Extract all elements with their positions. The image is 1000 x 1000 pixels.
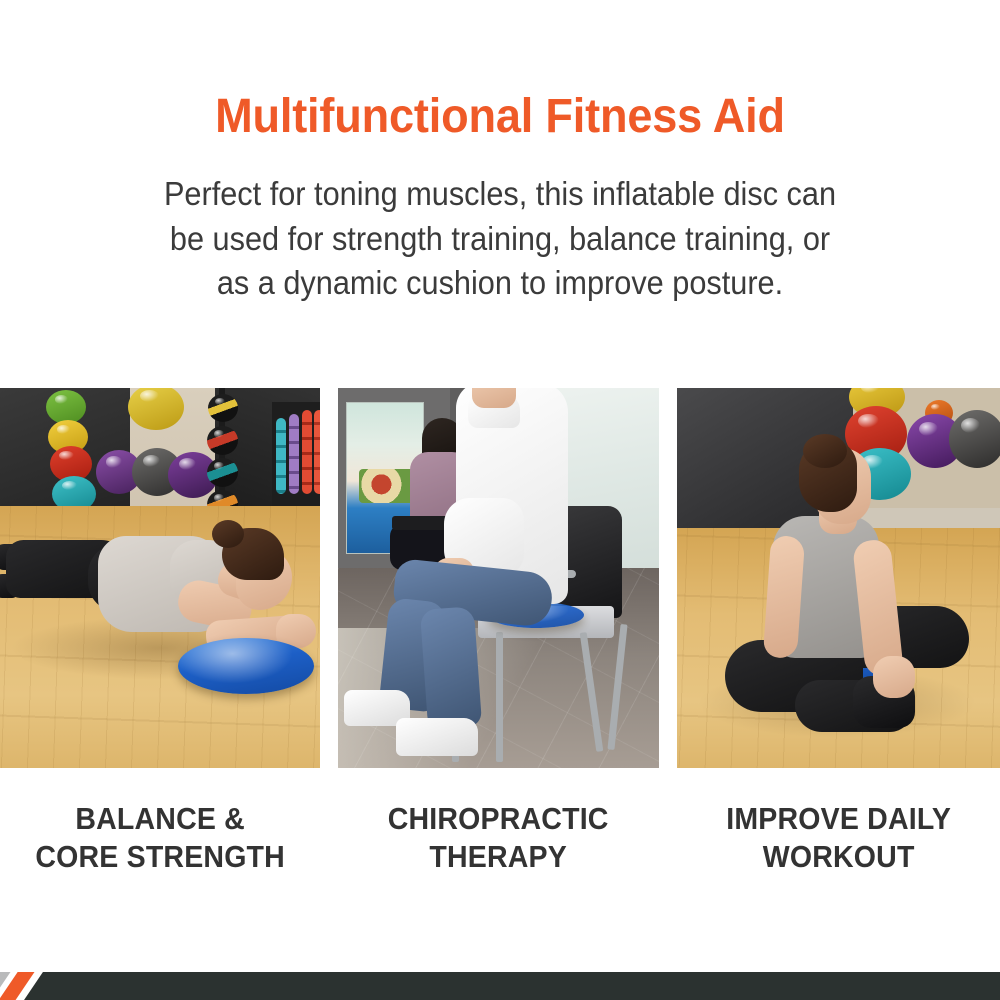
dumbbell-row-purple <box>289 414 299 494</box>
photo-panel-row <box>0 388 1000 768</box>
caption-line-2: CORE STRENGTH <box>13 838 308 876</box>
dumbbell-row-red <box>302 410 312 494</box>
caption-line-1: CHIROPRACTIC <box>351 800 646 838</box>
subtitle-line-3: as a dynamic cushion to improve posture. <box>35 261 965 305</box>
mans-shin-2 <box>420 606 482 729</box>
photo-balance-core-strength <box>0 388 320 768</box>
subtitle-line-1: Perfect for toning muscles, this inflata… <box>35 172 965 216</box>
poster-image <box>359 469 415 503</box>
page-subtitle: Perfect for toning muscles, this inflata… <box>35 172 965 305</box>
hair-bun <box>803 434 847 468</box>
caption-line-2: WORKOUT <box>690 838 987 876</box>
caption-row: BALANCE & CORE STRENGTH CHIROPRACTIC THE… <box>0 800 1000 876</box>
caption-line-1: BALANCE & <box>13 800 308 838</box>
office-chair-leg-front <box>496 632 503 762</box>
photo-improve-daily-workout <box>677 388 1000 768</box>
product-infographic: Multifunctional Fitness Aid Perfect for … <box>0 0 1000 1000</box>
blue-balance-disc <box>178 638 314 694</box>
caption-balance-core-strength: BALANCE & CORE STRENGTH <box>13 800 308 876</box>
subtitle-line-2: be used for strength training, balance t… <box>35 217 965 261</box>
caption-line-2: THERAPY <box>351 838 646 876</box>
page-title: Multifunctional Fitness Aid <box>30 92 970 142</box>
caption-line-1: IMPROVE DAILY <box>690 800 987 838</box>
medicine-ball-yellow <box>208 394 238 422</box>
footer-bar <box>0 972 1000 1000</box>
medicine-ball-teal <box>207 458 238 487</box>
photo-chiropractic-therapy <box>338 388 658 768</box>
hair-bun <box>212 520 244 548</box>
sneaker-right <box>396 718 478 756</box>
dumbbell-row-teal <box>276 418 286 494</box>
caption-chiropractic-therapy: CHIROPRACTIC THERAPY <box>351 800 646 876</box>
caption-improve-daily-workout: IMPROVE DAILY WORKOUT <box>690 800 987 876</box>
header-block: Multifunctional Fitness Aid Perfect for … <box>0 0 1000 305</box>
stability-ball-gray <box>949 410 1000 468</box>
stability-ball-green <box>46 390 86 424</box>
medicine-ball-red <box>207 426 238 455</box>
hands <box>873 656 915 698</box>
dumbbell-row-red-2 <box>314 410 320 494</box>
mans-neck <box>472 388 516 408</box>
